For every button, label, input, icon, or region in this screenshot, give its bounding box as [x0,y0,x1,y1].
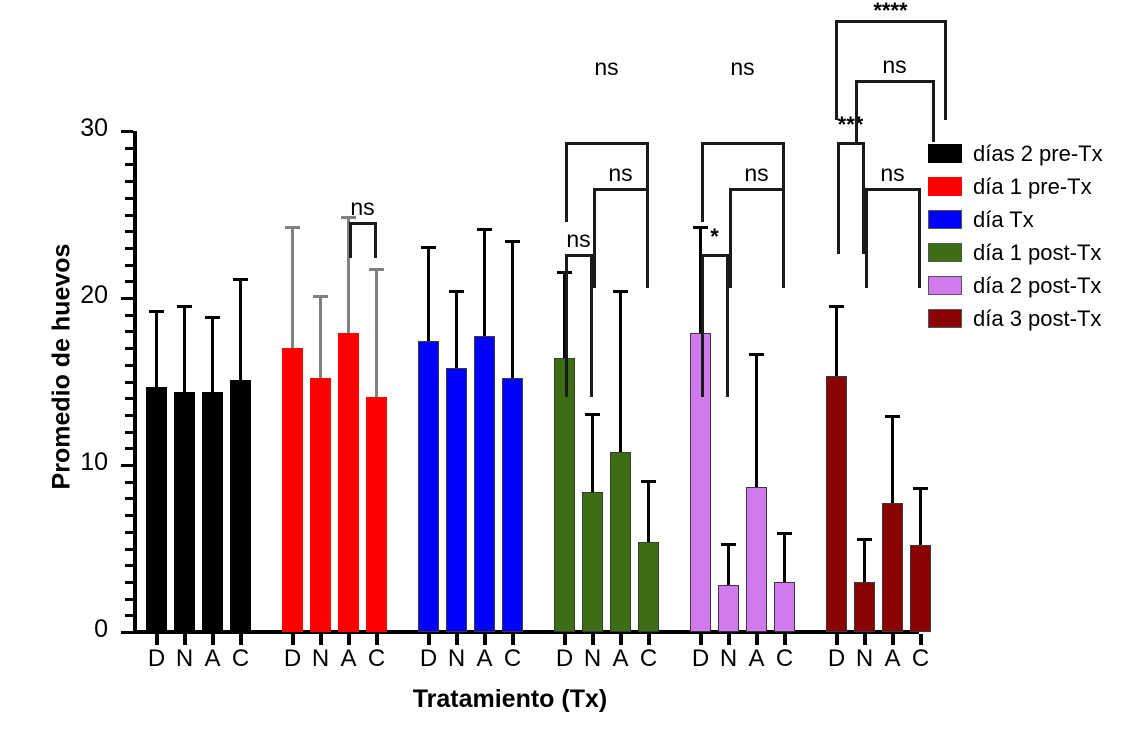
bar [502,378,523,632]
x-tick-label: A [609,645,633,673]
significance-bracket [835,20,947,120]
y-tick-minor [125,180,133,183]
x-tick-label: N [309,645,333,673]
error-bar-cap [477,228,492,231]
bracket-top [565,254,593,257]
bar [338,333,359,632]
significance-label: ns [865,162,921,185]
y-tick-minor [125,497,133,500]
bar [718,585,739,632]
error-bar-cap [177,305,192,308]
significance-label: * [701,226,729,248]
bracket-left-arm [565,254,568,397]
y-tick-minor [125,214,133,217]
y-tick-minor [125,247,133,250]
y-tick-minor [125,431,133,434]
legend-swatch [928,276,962,295]
error-bar-cap [149,310,164,313]
bracket-left-arm [837,142,840,254]
y-tick-minor [125,614,133,617]
x-tick-label: C [229,645,253,673]
significance-bracket [565,254,593,397]
x-tick-label: C [501,645,525,673]
legend-swatch [928,177,962,196]
bracket-left-arm [865,188,868,288]
bar [418,341,439,632]
legend-item[interactable]: día Tx [928,203,1140,236]
legend-swatch [928,309,962,328]
x-tick [783,634,787,645]
error-bar [427,246,430,341]
legend-label: día 3 post-Tx [973,306,1101,332]
x-tick [211,634,215,645]
y-tick-minor [125,314,133,317]
x-tick-label: D [417,645,441,673]
x-tick-label: D [281,645,305,673]
bracket-left-arm [701,254,704,397]
x-tick [563,634,567,645]
x-tick-label: C [773,645,797,673]
legend-label: día 2 post-Tx [973,273,1101,299]
bar [174,392,195,632]
x-tick [239,634,243,645]
y-tick-minor [125,163,133,166]
y-tick-minor [125,548,133,551]
y-tick-label: 0 [62,615,108,644]
error-bar [183,305,186,392]
x-tick [591,634,595,645]
error-bar [291,226,294,348]
error-bar [919,487,922,545]
error-bar [755,353,758,487]
y-tick-label: 20 [62,281,108,310]
x-tick [347,634,351,645]
y-tick-minor [125,381,133,384]
error-bar-cap [721,543,736,546]
bar [746,487,767,632]
y-tick-minor [125,564,133,567]
legend-label: día 1 post-Tx [973,240,1101,266]
error-bar [319,295,322,379]
y-tick-minor [125,581,133,584]
x-tick-label: D [553,645,577,673]
x-tick-label: A [337,645,361,673]
x-tick [183,634,187,645]
error-bar-cap [829,305,844,308]
y-tick-minor [125,197,133,200]
significance-label: ns [349,196,377,219]
x-tick [455,634,459,645]
x-tick [699,634,703,645]
y-tick-major [121,130,133,133]
significance-bracket [865,188,921,288]
legend-item[interactable]: día 1 pre-Tx [928,170,1140,203]
bar [774,582,795,632]
x-tick-label: C [365,645,389,673]
x-tick-label: A [473,645,497,673]
error-bar-cap [313,295,328,298]
x-tick [891,634,895,645]
legend-item[interactable]: día 2 post-Tx [928,269,1140,302]
y-tick-minor [125,264,133,267]
error-bar-cap [449,290,464,293]
error-bar [511,240,514,379]
bar [910,545,931,632]
error-bar-cap [913,487,928,490]
bracket-right-arm [782,142,785,222]
error-bar [891,415,894,504]
error-bar [239,278,242,380]
x-tick [619,634,623,645]
error-bar-cap [421,246,436,249]
x-tick-label: C [909,645,933,673]
y-tick-minor [125,280,133,283]
significance-label: **** [835,0,947,22]
x-tick [483,634,487,645]
significance-bracket [565,142,649,222]
y-tick-minor [125,514,133,517]
legend-swatch [928,144,962,163]
y-tick-label: 10 [62,448,108,477]
bracket-top [701,142,785,145]
y-tick-minor [125,598,133,601]
legend-swatch [928,210,962,229]
error-bar-cap [205,316,220,319]
bar [854,582,875,632]
y-tick-minor [125,330,133,333]
x-tick-label: N [853,645,877,673]
bar [310,378,331,632]
legend-item[interactable]: día 1 post-Tx [928,236,1140,269]
y-tick-minor [125,481,133,484]
significance-bracket [349,222,377,258]
significance-label: ns [565,228,593,251]
error-bar-cap [585,413,600,416]
y-tick-minor [125,531,133,534]
bar [282,348,303,632]
error-bar [835,305,838,377]
bar [474,336,495,632]
bracket-left-arm [349,222,352,258]
x-tick-label: A [745,645,769,673]
legend: días 2 pre-Txdía 1 pre-Txdía Txdía 1 pos… [928,137,1140,335]
x-tick [155,634,159,645]
error-bar [211,316,214,391]
error-bar [591,413,594,491]
legend-label: días 2 pre-Tx [973,141,1103,167]
bracket-left-arm [565,142,568,222]
bracket-top [837,142,865,145]
x-tick [727,634,731,645]
y-tick-minor [125,364,133,367]
bracket-left-arm [835,20,838,120]
x-tick [647,634,651,645]
legend-label: día Tx [973,207,1034,233]
y-tick-label: 30 [62,114,108,143]
bracket-right-arm [646,142,649,222]
error-bar [483,228,486,337]
x-tick-label: A [881,645,905,673]
bar [826,376,847,632]
error-bar-cap [505,240,520,243]
x-tick [835,634,839,645]
error-bar [863,538,866,581]
chart-canvas: Promedio de huevos Tratamiento (Tx) 0102… [0,0,1143,729]
x-tick-label: N [173,645,197,673]
y-tick-major [121,464,133,467]
error-bar-cap [885,415,900,418]
error-bar [783,532,786,582]
error-bar-cap [285,226,300,229]
y-tick-minor [125,347,133,350]
error-bar-cap [857,538,872,541]
error-bar-cap [613,290,628,293]
bracket-right-arm [944,20,947,120]
legend-item[interactable]: día 3 post-Tx [928,302,1140,335]
error-bar [619,290,622,452]
x-tick-label: N [445,645,469,673]
legend-label: día 1 pre-Tx [973,174,1092,200]
x-tick [755,634,759,645]
x-tick [291,634,295,645]
error-bar [455,290,458,368]
y-tick-major [121,631,133,634]
significance-bracket [701,142,785,222]
x-tick [863,634,867,645]
bar [146,387,167,632]
x-tick-label: D [825,645,849,673]
error-bar [647,480,650,542]
y-tick-minor [125,230,133,233]
bar [610,452,631,632]
x-axis-title: Tratamiento (Tx) [100,685,920,714]
error-bar-cap [749,353,764,356]
bar [554,358,575,632]
error-bar-cap [369,268,384,271]
bar [638,542,659,632]
x-tick-label: N [717,645,741,673]
bar [202,392,223,632]
y-tick-minor [125,447,133,450]
bar [446,368,467,632]
x-tick [511,634,515,645]
significance-bracket [701,254,729,397]
bracket-left-arm [701,142,704,222]
y-tick-minor [125,414,133,417]
x-tick-label: C [637,645,661,673]
x-tick [427,634,431,645]
x-tick [375,634,379,645]
legend-swatch [928,243,962,262]
error-bar-cap [233,278,248,281]
error-bar-cap [641,480,656,483]
legend-item[interactable]: días 2 pre-Tx [928,137,1140,170]
bracket-top [565,142,649,145]
bracket-top [865,188,921,191]
x-tick-label: D [689,645,713,673]
x-tick-label: A [201,645,225,673]
significance-label: ns [701,56,785,79]
bracket-top [701,254,729,257]
bar [582,492,603,632]
bracket-top [349,222,377,225]
bar [366,397,387,632]
y-tick-major [121,297,133,300]
x-tick [319,634,323,645]
x-tick-label: D [145,645,169,673]
x-tick [919,634,923,645]
significance-bracket [837,142,865,254]
bracket-right-arm [918,188,921,288]
error-bar-cap [777,532,792,535]
error-bar [375,268,378,397]
bracket-right-arm [374,222,377,258]
y-tick-minor [125,397,133,400]
bar [882,503,903,632]
y-axis-line [133,131,137,634]
significance-label: ns [565,56,649,79]
error-bar [727,543,730,585]
x-tick-label: N [581,645,605,673]
error-bar [155,310,158,387]
bar [230,380,251,632]
y-tick-minor [125,147,133,150]
